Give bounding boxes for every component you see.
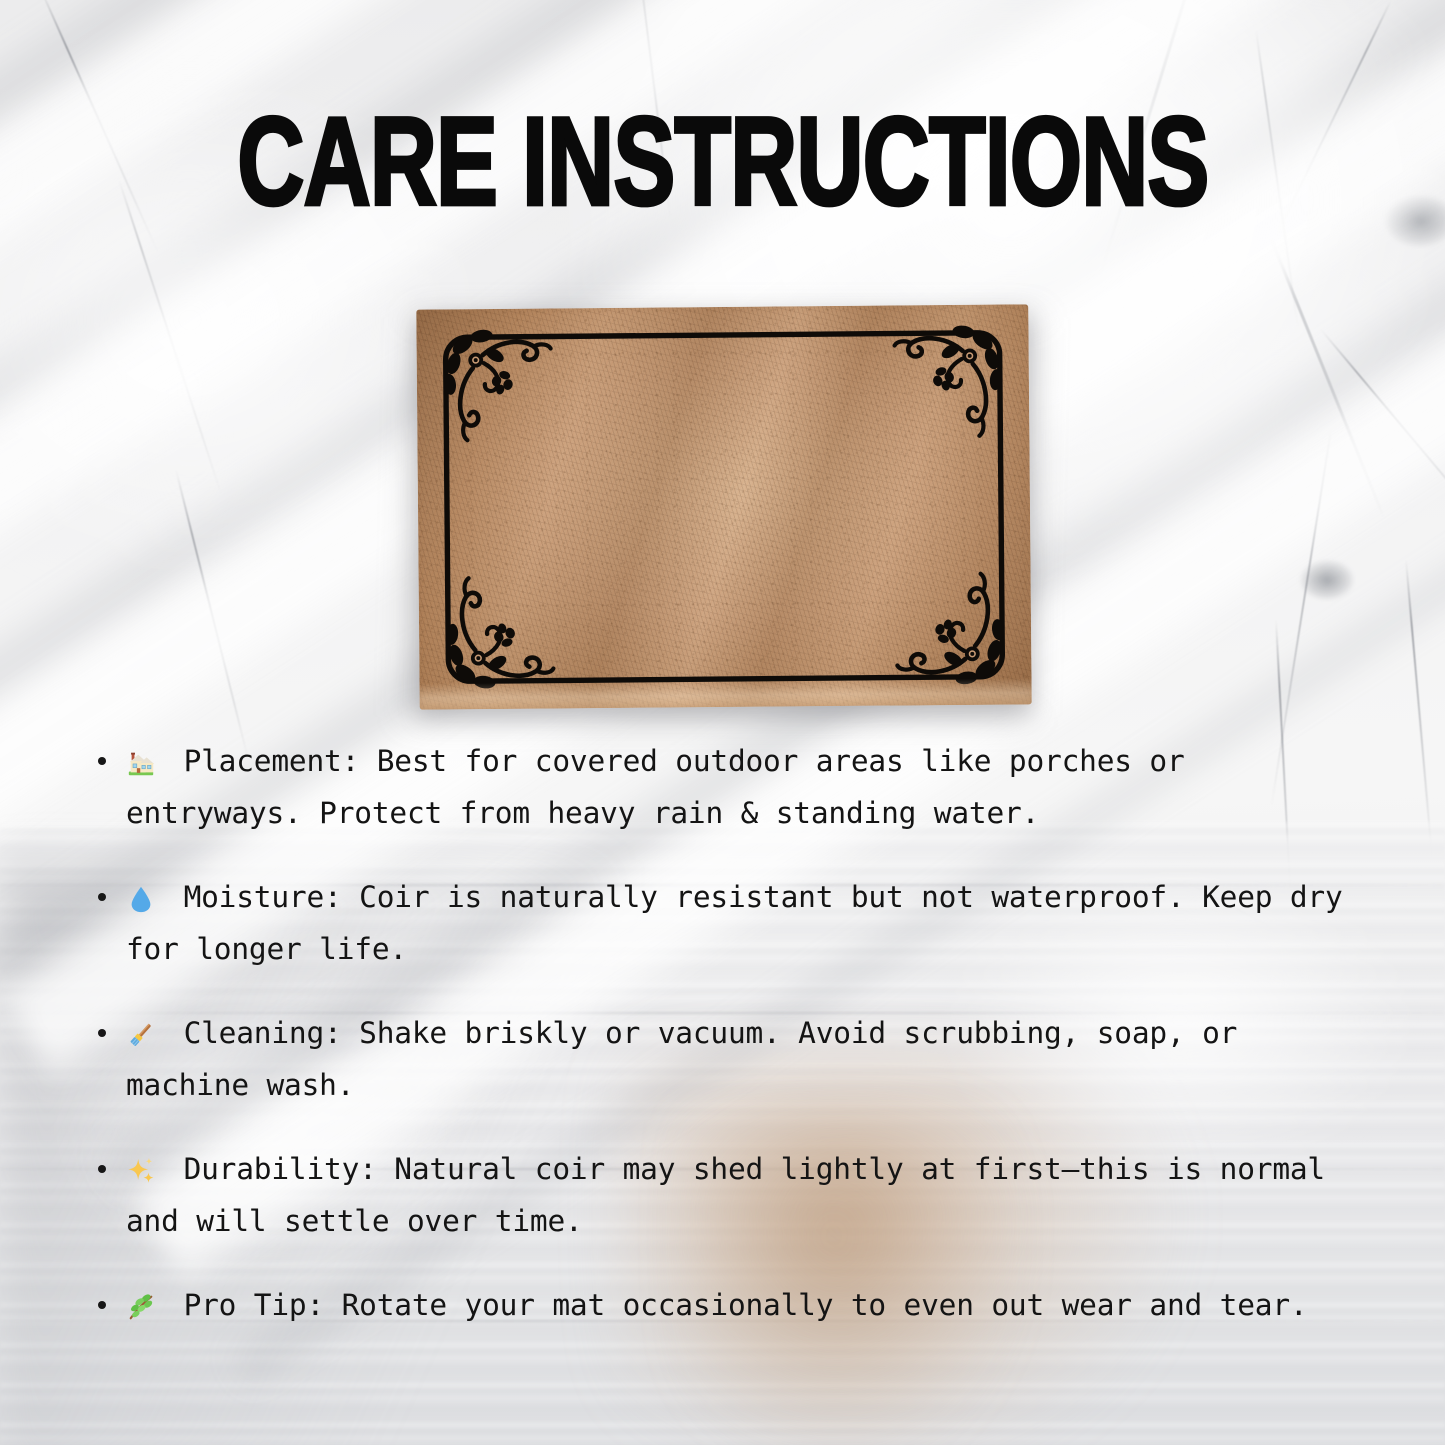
list-item-text: Moisture: Coir is naturally resistant bu… — [126, 880, 1343, 966]
list-item-text: Pro Tip: Rotate your mat occasionally to… — [184, 1288, 1308, 1322]
doormat — [416, 304, 1031, 709]
sparkles-icon — [126, 1156, 166, 1186]
house-with-garden-icon — [126, 748, 166, 778]
bullet-dot — [98, 893, 106, 901]
care-instruction-list: Placement: Best for covered outdoor area… — [0, 735, 1445, 1331]
care-instructions-page: CARE INSTRUCTIONS — [0, 0, 1445, 1445]
list-item-text: Durability: Natural coir may shed lightl… — [126, 1152, 1325, 1238]
bullet-dot — [98, 757, 106, 765]
bullet-dot — [98, 1029, 106, 1037]
list-item: Durability: Natural coir may shed lightl… — [86, 1143, 1375, 1247]
doormat-product-image — [418, 307, 1030, 707]
bullet-dot — [98, 1301, 106, 1309]
page-title: CARE INSTRUCTIONS — [0, 104, 1445, 211]
bullet-dot — [98, 1165, 106, 1173]
list-item-text: Cleaning: Shake briskly or vacuum. Avoid… — [126, 1016, 1237, 1102]
paintbrush-icon — [126, 1020, 166, 1050]
droplet-icon — [126, 884, 166, 914]
page-title-text: CARE INSTRUCTIONS — [237, 104, 1208, 219]
list-item-text: Placement: Best for covered outdoor area… — [126, 744, 1185, 830]
list-item: Moisture: Coir is naturally resistant bu… — [86, 871, 1375, 975]
list-item: Pro Tip: Rotate your mat occasionally to… — [86, 1279, 1375, 1331]
herb-icon — [126, 1292, 166, 1322]
list-item: Placement: Best for covered outdoor area… — [86, 735, 1375, 839]
doormat-border-design — [416, 304, 1031, 709]
list-item: Cleaning: Shake briskly or vacuum. Avoid… — [86, 1007, 1375, 1111]
